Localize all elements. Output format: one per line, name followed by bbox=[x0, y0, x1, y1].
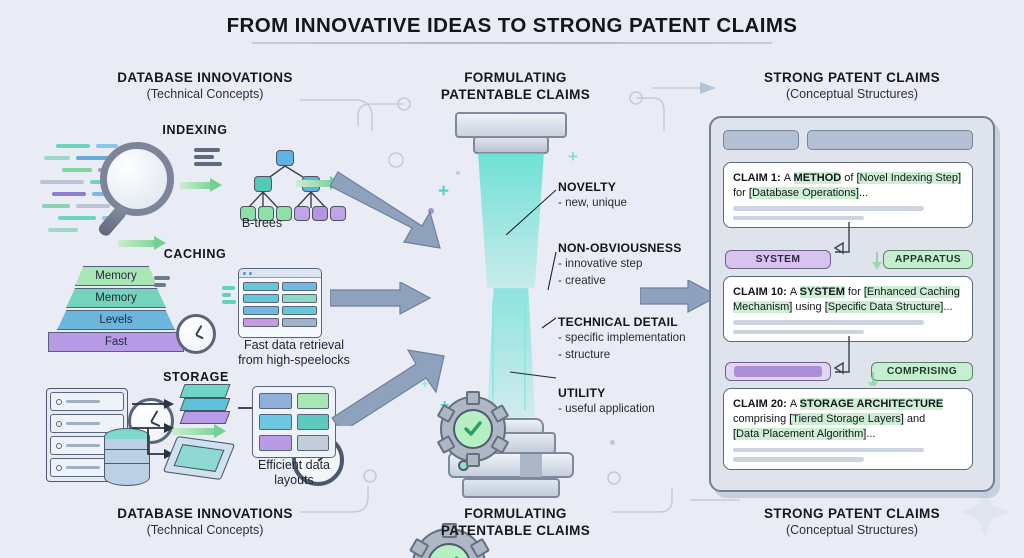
claim-10-skeleton-0 bbox=[733, 320, 924, 325]
patent-claims-panel: CLAIM 1: A METHOD of [Novel Indexing Ste… bbox=[709, 116, 995, 492]
footer-right: STRONG PATENT CLAIMS (Conceptual Structu… bbox=[712, 506, 992, 537]
claim-1-line-0: CLAIM 1: A METHOD of [Novel Indexing Ste… bbox=[733, 171, 963, 186]
footer-right-title: STRONG PATENT CLAIMS bbox=[712, 506, 992, 521]
funnel-top-flange bbox=[455, 112, 567, 138]
criterion-nonobviousness-heading: NON-OBVIOUSNESS bbox=[558, 241, 718, 255]
infographic-canvas: FROM INNOVATIVE IDEAS TO STRONG PATENT C… bbox=[0, 0, 1024, 558]
section-title-storage: STORAGE bbox=[136, 370, 256, 384]
clock-icon-1 bbox=[176, 314, 216, 354]
claim-10-line-0: CLAIM 10: A SYSTEM for [Enhanced Caching bbox=[733, 285, 963, 300]
criterion-technical-detail: TECHNICAL DETAIL - specific implementati… bbox=[558, 315, 718, 362]
claim-1-skeleton-0 bbox=[733, 206, 924, 211]
criterion-utility-bullet-0: - useful application bbox=[558, 401, 718, 417]
motion-lines-tree bbox=[194, 148, 222, 166]
criterion-technical-detail-heading: TECHNICAL DETAIL bbox=[558, 315, 718, 329]
badge-system[interactable]: SYSTEM bbox=[725, 250, 831, 269]
funnel-foot bbox=[462, 478, 560, 498]
data-layout-grid bbox=[252, 386, 336, 458]
claim-10-line-1: Mechanism] using [Specific Data Structur… bbox=[733, 300, 963, 315]
caption-storage-line1: Efficient data bbox=[246, 458, 342, 473]
claim-1-line-1: for [Database Operations]... bbox=[733, 186, 963, 201]
footer-left-subtitle: (Technical Concepts) bbox=[60, 523, 350, 537]
criterion-novelty-heading: NOVELTY bbox=[558, 180, 708, 194]
pyramid-level-3: Fast bbox=[48, 332, 184, 352]
claim-10-text: CLAIM 10: A SYSTEM for [Enhanced Caching… bbox=[733, 285, 963, 315]
claim-20-skeleton-1 bbox=[733, 457, 864, 462]
arrow-into-funnel-top bbox=[330, 168, 460, 258]
badge-placeholder[interactable] bbox=[725, 362, 831, 381]
claim-card-1[interactable]: CLAIM 1: A METHOD of [Novel Indexing Ste… bbox=[723, 162, 973, 228]
criterion-nonobviousness-bullet-0: - innovative step bbox=[558, 256, 718, 272]
cache-window bbox=[238, 268, 322, 338]
claim-20-line-1: comprising [Tiered Storage Layers] and bbox=[733, 412, 963, 427]
footer-right-subtitle: (Conceptual Structures) bbox=[712, 523, 992, 537]
claim-connectors-1 bbox=[821, 222, 951, 270]
claim-1-text: CLAIM 1: A METHOD of [Novel Indexing Ste… bbox=[733, 171, 963, 201]
criterion-nonobviousness-bullet-1: - creative bbox=[558, 273, 718, 289]
panel-header-bar-2 bbox=[807, 130, 973, 150]
arrow-into-funnel-mid bbox=[330, 282, 440, 316]
caption-btrees: B-trees bbox=[212, 216, 312, 231]
funnel-top-neck bbox=[473, 136, 549, 154]
claim-1-skeleton-1 bbox=[733, 216, 864, 221]
pyramid-level-2: Levels bbox=[57, 310, 175, 330]
funnel-base-stripe bbox=[520, 454, 542, 477]
panel-header-bar-1 bbox=[723, 130, 799, 150]
dot-decor-3 bbox=[610, 440, 615, 445]
criterion-novelty-bullet-0: - new, unique bbox=[558, 195, 708, 211]
section-title-indexing: INDEXING bbox=[130, 123, 260, 137]
criterion-technical-detail-bullet-1: - structure bbox=[558, 347, 718, 363]
claim-20-line-2: [Data Placement Algorithm]... bbox=[733, 427, 963, 442]
check-icon bbox=[436, 552, 462, 558]
claim-card-10[interactable]: CLAIM 10: A SYSTEM for [Enhanced Caching… bbox=[723, 276, 973, 342]
arrow-into-funnel-bottom bbox=[330, 346, 450, 426]
motion-lines-clock bbox=[154, 276, 170, 287]
motion-lines-window bbox=[222, 286, 236, 304]
footer-center-title-2: PATENTABLE CLAIMS bbox=[408, 523, 623, 538]
claim-card-20[interactable]: CLAIM 20: A STORAGE ARCHITECTURE compris… bbox=[723, 388, 973, 470]
footer-center: FORMULATING PATENTABLE CLAIMS bbox=[408, 506, 623, 538]
criterion-utility-heading: UTILITY bbox=[558, 386, 718, 400]
claim-connectors-2 bbox=[821, 336, 951, 386]
criterion-nonobviousness: NON-OBVIOUSNESS - innovative step - crea… bbox=[558, 241, 718, 288]
caption-storage-line2: layouts bbox=[246, 473, 342, 488]
footer-left: DATABASE INNOVATIONS (Technical Concepts… bbox=[60, 506, 350, 537]
section-title-caching: CACHING bbox=[130, 247, 260, 261]
caption-storage: Efficient data layouts bbox=[246, 458, 342, 489]
claim-20-line-0: CLAIM 20: A STORAGE ARCHITECTURE bbox=[733, 397, 963, 412]
footer-center-title-1: FORMULATING bbox=[408, 506, 623, 521]
footer-left-title: DATABASE INNOVATIONS bbox=[60, 506, 350, 521]
claim-20-text: CLAIM 20: A STORAGE ARCHITECTURE compris… bbox=[733, 397, 963, 443]
claim-10-skeleton-1 bbox=[733, 330, 864, 335]
arrow-index-1 bbox=[180, 178, 222, 192]
layered-storage-icon bbox=[178, 384, 234, 432]
plus-decor-2: + bbox=[568, 148, 578, 165]
criteria-leader-lines bbox=[490, 180, 580, 420]
criterion-novelty: NOVELTY - new, unique bbox=[558, 180, 708, 211]
claim-20-skeleton-0 bbox=[733, 448, 924, 453]
pyramid-level-0: Memory bbox=[75, 266, 157, 286]
criterion-utility: UTILITY - useful application bbox=[558, 386, 718, 417]
check-icon bbox=[461, 417, 485, 441]
pyramid-level-1: Memory bbox=[66, 288, 166, 308]
criterion-technical-detail-bullet-0: - specific implementation bbox=[558, 330, 718, 346]
